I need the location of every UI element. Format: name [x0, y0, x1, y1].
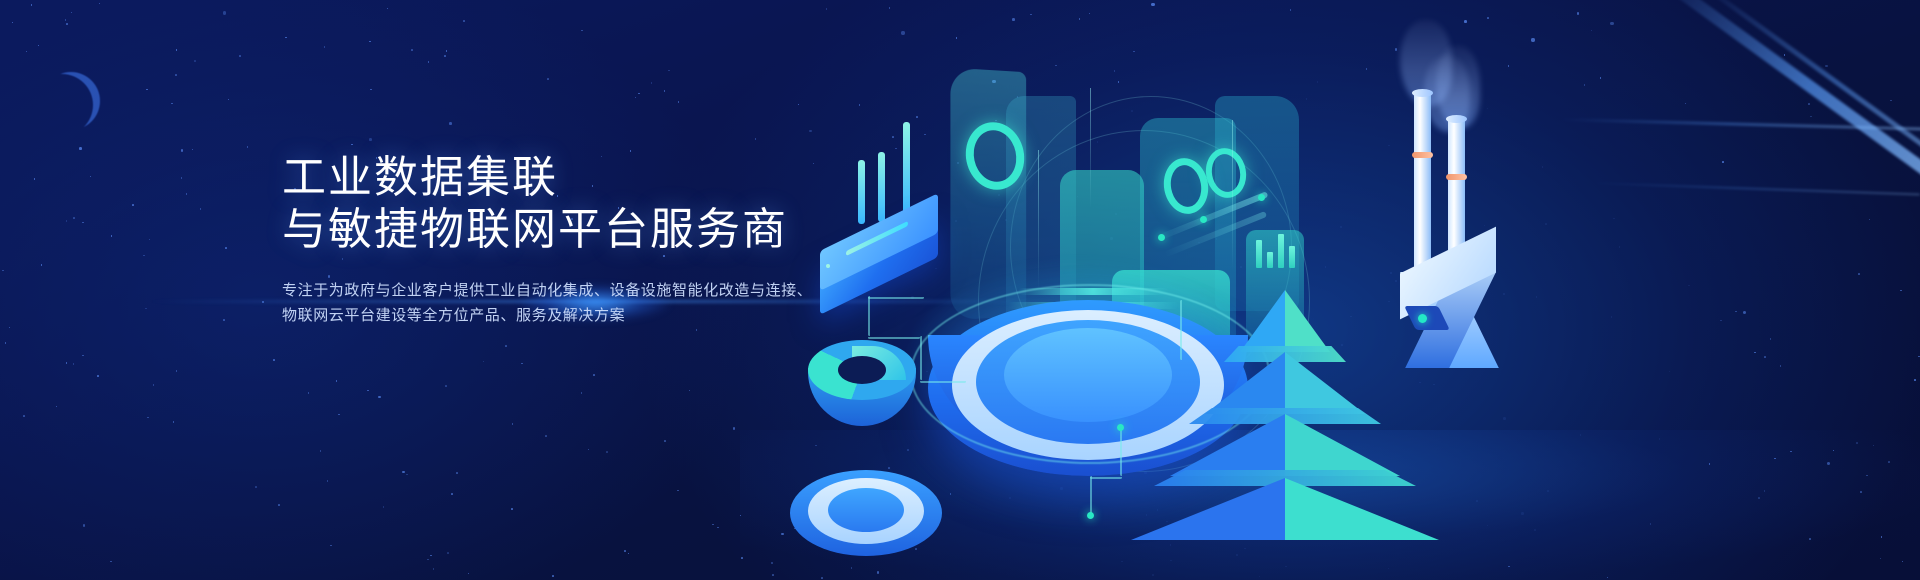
- donut-hole: [838, 356, 886, 384]
- pyramid-tier-left: [1240, 290, 1285, 352]
- pyramid-tier-right: [1285, 352, 1365, 414]
- router-antenna: [878, 152, 885, 222]
- connection-wire: [1090, 476, 1122, 479]
- smokestack-band: [1412, 152, 1433, 158]
- pyramid-tier-left: [1131, 478, 1285, 540]
- smokestack-band: [1446, 174, 1467, 180]
- connection-wire: [1180, 300, 1183, 360]
- tower-bar-chart: [1256, 228, 1302, 268]
- smokestack: [1414, 92, 1431, 270]
- pyramid-tier-right: [1285, 414, 1400, 476]
- connection-wire: [868, 296, 871, 336]
- smokestack-cap: [1446, 115, 1467, 123]
- wire-node: [1117, 424, 1124, 431]
- wire-node: [1087, 512, 1094, 519]
- beam-node: [1200, 216, 1207, 223]
- tower-antenna-line: [1232, 120, 1233, 270]
- smokestack-cap: [1412, 89, 1433, 97]
- connection-wire: [1090, 476, 1093, 516]
- connection-wire: [1120, 430, 1123, 476]
- pyramid-tier-right: [1285, 478, 1439, 540]
- hero-banner: 工业数据集联 与敏捷物联网平台服务商 专注于为政府与企业客户提供工业自动化集成、…: [0, 0, 1920, 580]
- pyramid-tier-left: [1205, 352, 1285, 414]
- pyramid-tier-right: [1285, 290, 1330, 352]
- hero-illustration: [760, 0, 1920, 580]
- connection-wire: [920, 380, 966, 383]
- router-led: [826, 264, 830, 268]
- connection-wire: [868, 336, 920, 339]
- crescent-moon-icon: [42, 72, 100, 130]
- router-antenna: [858, 160, 865, 224]
- stepped-pyramid: [1120, 290, 1450, 580]
- beam-node: [1258, 194, 1265, 201]
- ring-platform-inner: [828, 488, 904, 532]
- connection-wire: [868, 296, 924, 299]
- router-antenna: [903, 122, 910, 216]
- connection-wire: [920, 336, 923, 380]
- tower-antenna-line: [1090, 88, 1091, 208]
- beam-node: [1158, 234, 1165, 241]
- pyramid-tier-left: [1170, 414, 1285, 476]
